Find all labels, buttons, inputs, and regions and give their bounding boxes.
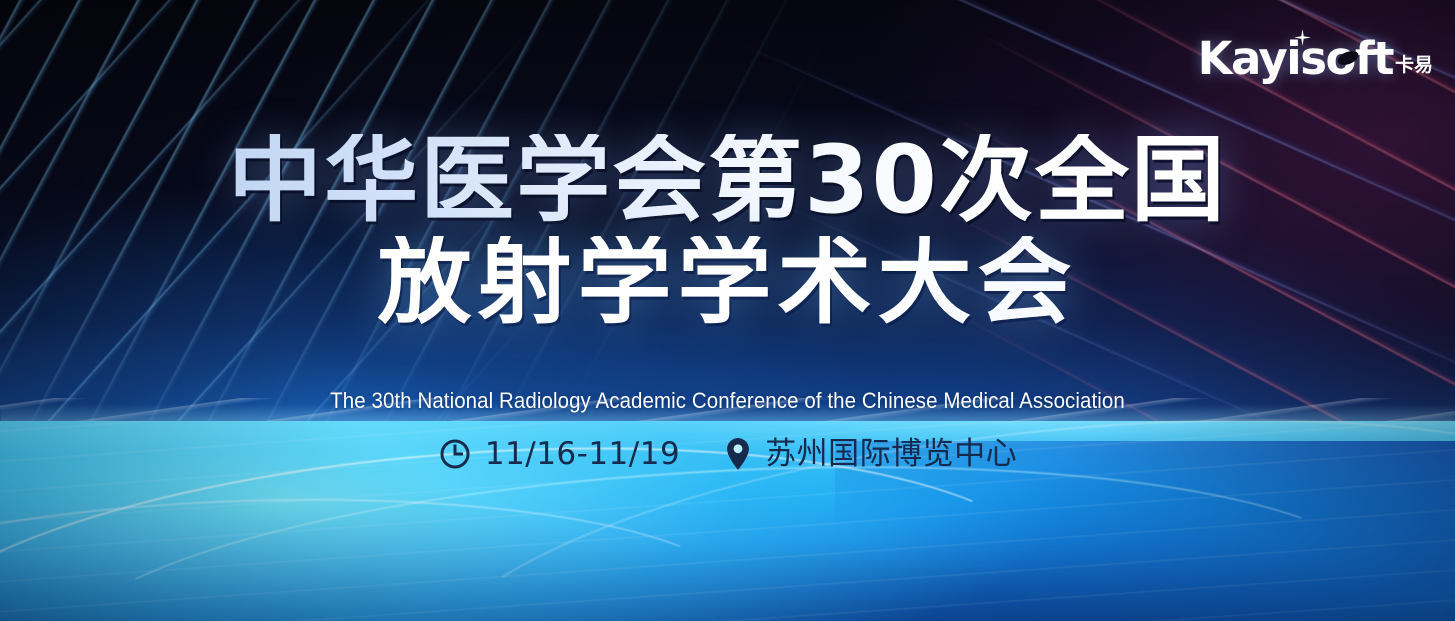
english-subtitle: The 30th National Radiology Academic Con… bbox=[51, 388, 1404, 414]
conference-banner: Kayisoft 卡易 中华医学会第30次全国 放射学学术大会 The 30th… bbox=[0, 0, 1455, 621]
logo-wordmark-text: Kayisoft bbox=[1198, 32, 1393, 85]
location-pin-icon bbox=[724, 437, 752, 471]
logo-wordmark: Kayisoft bbox=[1198, 36, 1393, 81]
headline-line-1: 中华医学会第30次全国 bbox=[0, 134, 1455, 228]
headline-line-2: 放射学学术大会 bbox=[0, 236, 1455, 330]
kayisoft-logo[interactable]: Kayisoft 卡易 bbox=[1198, 36, 1433, 81]
clock-icon bbox=[438, 437, 472, 471]
event-date-text: 11/16-11/19 bbox=[485, 439, 680, 470]
event-venue: 苏州国际博览中心 bbox=[724, 437, 1017, 471]
event-info-row: 11/16-11/19 苏州国际博览中心 bbox=[0, 437, 1455, 471]
logo-chinese-suffix: 卡易 bbox=[1395, 50, 1433, 77]
event-venue-text: 苏州国际博览中心 bbox=[765, 439, 1017, 470]
headline: 中华医学会第30次全国 放射学学术大会 bbox=[0, 134, 1455, 330]
event-date: 11/16-11/19 bbox=[438, 437, 680, 471]
